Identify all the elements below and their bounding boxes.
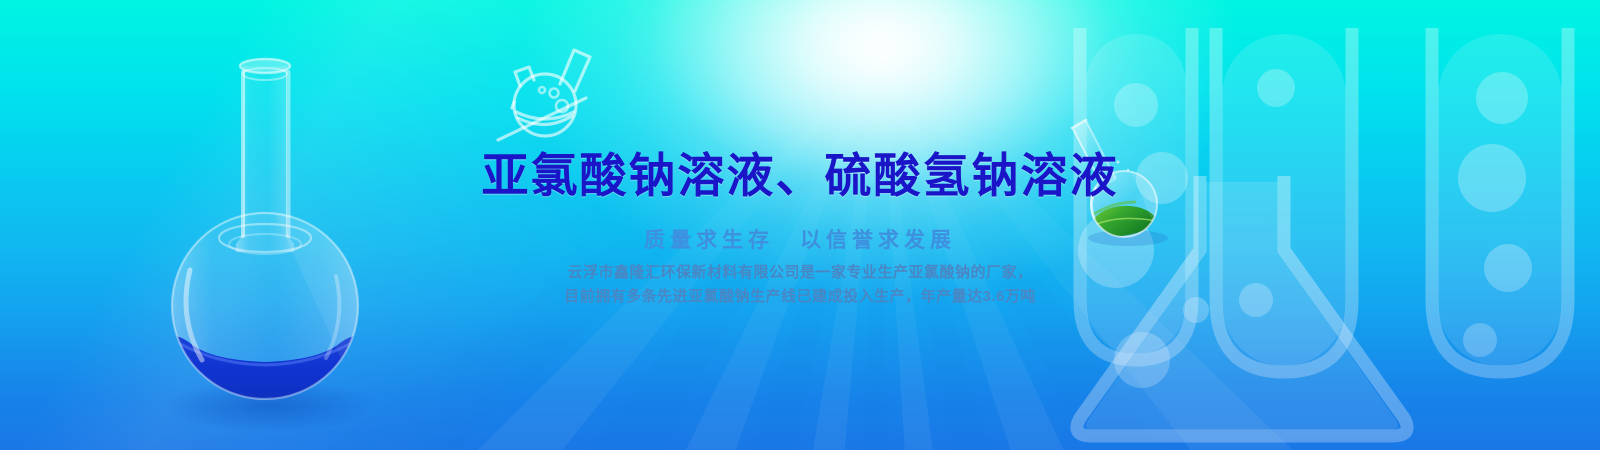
banner-text-block: 亚氯酸钠溶液、硫酸氢钠溶液 质量求生存 以信誉求发展 云浮市鑫隆汇环保新材料有限… [0,0,1600,450]
banner-title: 亚氯酸钠溶液、硫酸氢钠溶液 [0,152,1600,199]
promo-banner: 亚氯酸钠溶液、硫酸氢钠溶液 质量求生存 以信誉求发展 云浮市鑫隆汇环保新材料有限… [0,0,1600,450]
banner-body-line-1: 云浮市鑫隆汇环保新材料有限公司是一家专业生产亚氯酸钠的厂家， [0,265,1600,280]
banner-body-line-2: 目前拥有多条先进亚氯酸钠生产线已建成投入生产，年产量达3.6万吨 [0,289,1600,304]
banner-slogan: 质量求生存 以信誉求发展 [0,230,1600,251]
